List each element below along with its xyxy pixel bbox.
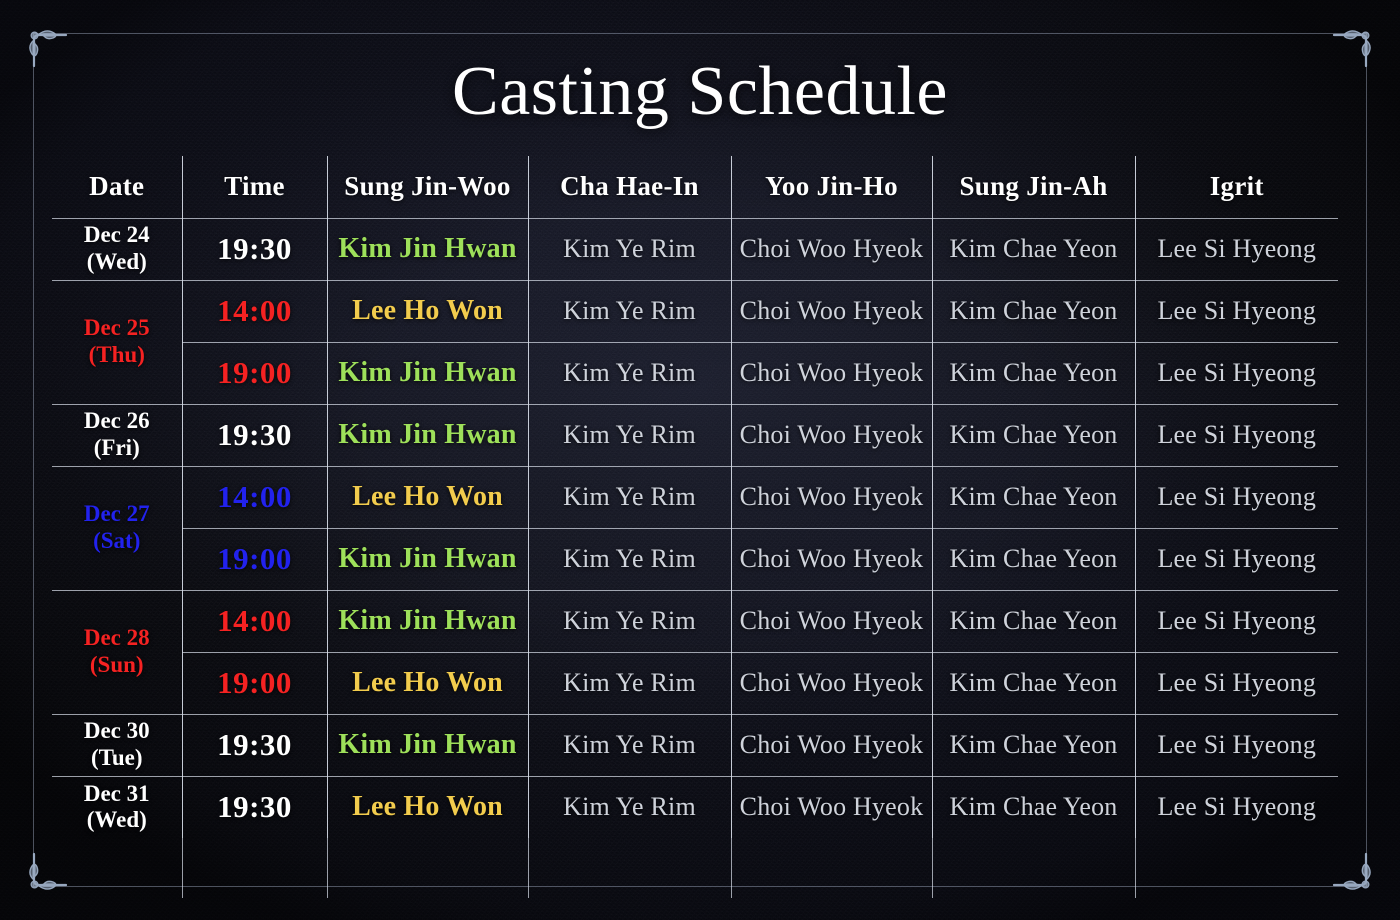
- table-header-row: DateTimeSung Jin-WooCha Hae-InYoo Jin-Ho…: [52, 156, 1338, 218]
- column-header-sung_jin_woo: Sung Jin-Woo: [327, 156, 528, 218]
- table-row: Dec 26(Fri)19:30Kim Jin HwanKim Ye RimCh…: [52, 404, 1338, 466]
- column-header-date: Date: [52, 156, 182, 218]
- date-cell: Dec 31(Wed): [52, 776, 182, 838]
- date-day: Dec 28: [56, 625, 178, 652]
- cast-cell-cha-hae-in: Kim Ye Rim: [528, 714, 731, 776]
- time-cell: 19:00: [182, 528, 327, 590]
- table-row: Dec 25(Thu)14:00Lee Ho WonKim Ye RimChoi…: [52, 280, 1338, 342]
- table-row: Dec 28(Sun)14:00Kim Jin HwanKim Ye RimCh…: [52, 590, 1338, 652]
- time-cell: 19:00: [182, 342, 327, 404]
- table-row: Dec 27(Sat)14:00Lee Ho WonKim Ye RimChoi…: [52, 466, 1338, 528]
- date-cell: Dec 30(Tue): [52, 714, 182, 776]
- date-weekday: (Sat): [56, 528, 178, 555]
- cast-cell-igrit: Lee Si Hyeong: [1135, 714, 1338, 776]
- cast-cell-sung-jin-woo: Lee Ho Won: [327, 280, 528, 342]
- date-day: Dec 26: [56, 408, 178, 435]
- cast-cell-sung-jin-ah: Kim Chae Yeon: [932, 404, 1135, 466]
- table-row: Dec 30(Tue)19:30Kim Jin HwanKim Ye RimCh…: [52, 714, 1338, 776]
- schedule-table-wrap: DateTimeSung Jin-WooCha Hae-InYoo Jin-Ho…: [52, 156, 1338, 838]
- time-cell: 19:30: [182, 776, 327, 838]
- date-day: Dec 31: [56, 781, 178, 808]
- date-weekday: (Wed): [56, 807, 178, 834]
- date-cell: Dec 27(Sat): [52, 466, 182, 590]
- date-weekday: (Sun): [56, 652, 178, 679]
- cast-cell-sung-jin-ah: Kim Chae Yeon: [932, 776, 1135, 838]
- cast-cell-yoo-jin-ho: Choi Woo Hyeok: [731, 342, 932, 404]
- table-row: Dec 31(Wed)19:30Lee Ho WonKim Ye RimChoi…: [52, 776, 1338, 838]
- date-day: Dec 25: [56, 315, 178, 342]
- cast-cell-yoo-jin-ho: Choi Woo Hyeok: [731, 528, 932, 590]
- cast-cell-yoo-jin-ho: Choi Woo Hyeok: [731, 652, 932, 714]
- time-cell: 19:30: [182, 714, 327, 776]
- date-weekday: (Wed): [56, 249, 178, 276]
- time-cell: 19:30: [182, 218, 327, 280]
- cast-cell-cha-hae-in: Kim Ye Rim: [528, 218, 731, 280]
- cast-cell-sung-jin-ah: Kim Chae Yeon: [932, 218, 1135, 280]
- time-cell: 14:00: [182, 466, 327, 528]
- time-cell: 14:00: [182, 590, 327, 652]
- cast-cell-cha-hae-in: Kim Ye Rim: [528, 776, 731, 838]
- cast-cell-sung-jin-woo: Kim Jin Hwan: [327, 342, 528, 404]
- cast-cell-sung-jin-woo: Lee Ho Won: [327, 776, 528, 838]
- table-row: 19:00Kim Jin HwanKim Ye RimChoi Woo Hyeo…: [52, 342, 1338, 404]
- cast-cell-sung-jin-ah: Kim Chae Yeon: [932, 528, 1135, 590]
- schedule-poster: Casting Schedule DateTimeSung Jin-WooCha…: [0, 0, 1400, 920]
- column-header-time: Time: [182, 156, 327, 218]
- column-header-yoo_jin_ho: Yoo Jin-Ho: [731, 156, 932, 218]
- table-row: 19:00Kim Jin HwanKim Ye RimChoi Woo Hyeo…: [52, 528, 1338, 590]
- cast-cell-sung-jin-ah: Kim Chae Yeon: [932, 280, 1135, 342]
- cast-cell-cha-hae-in: Kim Ye Rim: [528, 590, 731, 652]
- cast-cell-sung-jin-woo: Kim Jin Hwan: [327, 218, 528, 280]
- date-day: Dec 27: [56, 501, 178, 528]
- casting-schedule-table: DateTimeSung Jin-WooCha Hae-InYoo Jin-Ho…: [52, 156, 1338, 838]
- date-weekday: (Fri): [56, 435, 178, 462]
- corner-flourish-icon: [1324, 844, 1376, 896]
- cast-cell-igrit: Lee Si Hyeong: [1135, 404, 1338, 466]
- table-row: 19:00Lee Ho WonKim Ye RimChoi Woo HyeokK…: [52, 652, 1338, 714]
- cast-cell-cha-hae-in: Kim Ye Rim: [528, 466, 731, 528]
- date-cell: Dec 28(Sun): [52, 590, 182, 714]
- page-title: Casting Schedule: [0, 50, 1400, 134]
- date-cell: Dec 24(Wed): [52, 218, 182, 280]
- cast-cell-igrit: Lee Si Hyeong: [1135, 776, 1338, 838]
- column-header-sung_jin_ah: Sung Jin-Ah: [932, 156, 1135, 218]
- cast-cell-yoo-jin-ho: Choi Woo Hyeok: [731, 590, 932, 652]
- time-cell: 14:00: [182, 280, 327, 342]
- cast-cell-sung-jin-woo: Kim Jin Hwan: [327, 404, 528, 466]
- time-cell: 19:00: [182, 652, 327, 714]
- cast-cell-igrit: Lee Si Hyeong: [1135, 218, 1338, 280]
- cast-cell-sung-jin-woo: Lee Ho Won: [327, 466, 528, 528]
- cast-cell-cha-hae-in: Kim Ye Rim: [528, 342, 731, 404]
- column-header-cha_hae_in: Cha Hae-In: [528, 156, 731, 218]
- cast-cell-sung-jin-ah: Kim Chae Yeon: [932, 466, 1135, 528]
- cast-cell-cha-hae-in: Kim Ye Rim: [528, 652, 731, 714]
- cast-cell-yoo-jin-ho: Choi Woo Hyeok: [731, 404, 932, 466]
- column-header-igrit: Igrit: [1135, 156, 1338, 218]
- cast-cell-cha-hae-in: Kim Ye Rim: [528, 528, 731, 590]
- corner-flourish-icon: [24, 844, 76, 896]
- cast-cell-igrit: Lee Si Hyeong: [1135, 342, 1338, 404]
- cast-cell-cha-hae-in: Kim Ye Rim: [528, 280, 731, 342]
- cast-cell-sung-jin-woo: Kim Jin Hwan: [327, 590, 528, 652]
- date-weekday: (Thu): [56, 342, 178, 369]
- cast-cell-yoo-jin-ho: Choi Woo Hyeok: [731, 714, 932, 776]
- cast-cell-cha-hae-in: Kim Ye Rim: [528, 404, 731, 466]
- cast-cell-sung-jin-woo: Kim Jin Hwan: [327, 714, 528, 776]
- time-cell: 19:30: [182, 404, 327, 466]
- cast-cell-yoo-jin-ho: Choi Woo Hyeok: [731, 218, 932, 280]
- cast-cell-yoo-jin-ho: Choi Woo Hyeok: [731, 466, 932, 528]
- cast-cell-sung-jin-woo: Kim Jin Hwan: [327, 528, 528, 590]
- cast-cell-sung-jin-ah: Kim Chae Yeon: [932, 714, 1135, 776]
- cast-cell-igrit: Lee Si Hyeong: [1135, 466, 1338, 528]
- date-day: Dec 30: [56, 718, 178, 745]
- cast-cell-sung-jin-ah: Kim Chae Yeon: [932, 342, 1135, 404]
- cast-cell-igrit: Lee Si Hyeong: [1135, 280, 1338, 342]
- cast-cell-igrit: Lee Si Hyeong: [1135, 652, 1338, 714]
- table-header: DateTimeSung Jin-WooCha Hae-InYoo Jin-Ho…: [52, 156, 1338, 218]
- cast-cell-sung-jin-ah: Kim Chae Yeon: [932, 590, 1135, 652]
- cast-cell-igrit: Lee Si Hyeong: [1135, 528, 1338, 590]
- table-body: Dec 24(Wed)19:30Kim Jin HwanKim Ye RimCh…: [52, 218, 1338, 838]
- cast-cell-yoo-jin-ho: Choi Woo Hyeok: [731, 280, 932, 342]
- cast-cell-sung-jin-ah: Kim Chae Yeon: [932, 652, 1135, 714]
- cast-cell-igrit: Lee Si Hyeong: [1135, 590, 1338, 652]
- table-row: Dec 24(Wed)19:30Kim Jin HwanKim Ye RimCh…: [52, 218, 1338, 280]
- date-weekday: (Tue): [56, 745, 178, 772]
- date-cell: Dec 26(Fri): [52, 404, 182, 466]
- date-cell: Dec 25(Thu): [52, 280, 182, 404]
- date-day: Dec 24: [56, 222, 178, 249]
- cast-cell-yoo-jin-ho: Choi Woo Hyeok: [731, 776, 932, 838]
- cast-cell-sung-jin-woo: Lee Ho Won: [327, 652, 528, 714]
